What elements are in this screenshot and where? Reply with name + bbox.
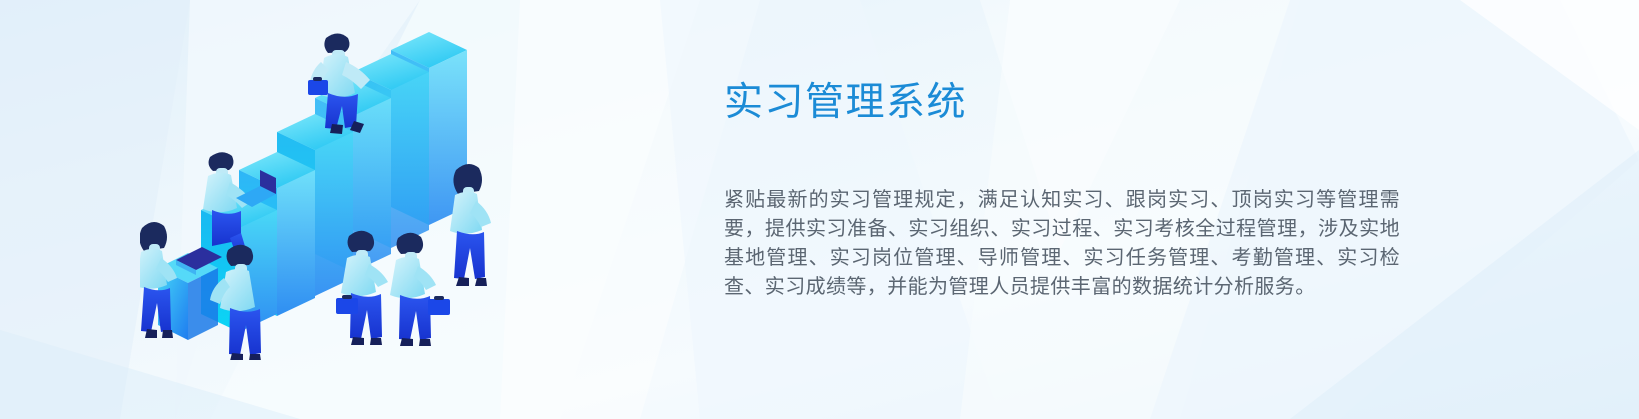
hero-illustration bbox=[140, 10, 500, 360]
page-description: 紧贴最新的实习管理规定，满足认知实习、跟岗实习、顶岗实习等管理需要，提供实习准备… bbox=[724, 128, 1400, 302]
hero-copy: 实习管理系统 紧贴最新的实习管理规定，满足认知实习、跟岗实习、顶岗实习等管理需要… bbox=[724, 78, 1404, 302]
figure-man-right bbox=[390, 233, 450, 346]
page-title: 实习管理系统 bbox=[724, 78, 1404, 128]
hero-banner: 实习管理系统 紧贴最新的实习管理规定，满足认知实习、跟岗实习、顶岗实习等管理需要… bbox=[0, 0, 1639, 419]
figure-woman-right bbox=[450, 164, 491, 286]
